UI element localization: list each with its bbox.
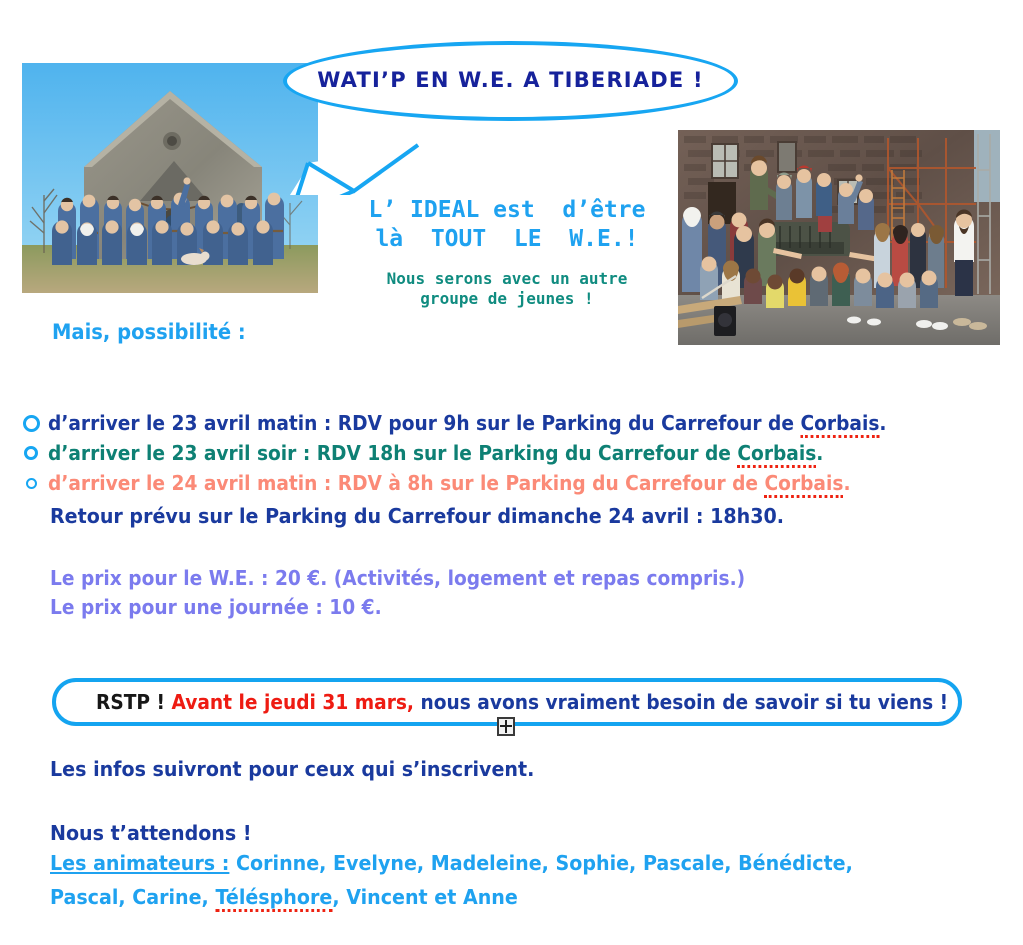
misspelled-word: Corbais (765, 471, 844, 498)
bullet-ring-icon (14, 446, 48, 460)
autre-groupe-text-block: Nous serons avec un autre groupe de jeun… (352, 269, 662, 310)
animateurs-label: Les animateurs : (50, 851, 229, 875)
ideal-line-1: L’ IDEAL est d’être (352, 196, 662, 225)
animateurs-line: Les animateurs : Corinne, Evelyne, Madel… (50, 851, 853, 875)
animateurs-line-2: Pascal, Carine, Télésphore, Vincent et A… (50, 885, 518, 909)
youth-photo-art (678, 130, 1000, 345)
bullet-1-text-after: . (879, 411, 886, 435)
infos-line: Les infos suivront pour ceux qui s’inscr… (50, 757, 534, 781)
mais-possibilite-heading: Mais, possibilité : (52, 320, 246, 344)
list-item-text: d’arriver le 23 avril matin : RDV pour 9… (48, 411, 886, 435)
ideal-text-block: L’ IDEAL est d’être là TOUT LE W.E.! (352, 196, 662, 253)
list-item[interactable]: d’arriver le 23 avril matin : RDV pour 9… (14, 408, 994, 438)
rstp-text: RSTP !Avant le jeudi 31 mars, nous avons… (96, 690, 948, 714)
retour-line: Retour prévu sur le Parking du Carrefour… (50, 504, 784, 528)
price-day-line: Le prix pour une journée : 10 €. (50, 595, 382, 619)
animateurs-names-2a: Pascal, Carine, (50, 885, 215, 909)
rstp-rest: nous avons vraiment besoin de savoir si … (414, 690, 948, 714)
bullet-1-text-before: d’arriver le 23 avril matin : RDV pour 9… (48, 411, 800, 435)
animateurs-names-2b: , Vincent et Anne (332, 885, 517, 909)
list-item[interactable]: d’arriver le 24 avril matin : RDV à 8h s… (14, 468, 994, 498)
speech-bubble-text: WATI’P EN W.E. A TIBERIADE ! (317, 68, 704, 92)
misspelled-word: Corbais (737, 441, 816, 468)
autre-line-2: groupe de jeunes ! (352, 289, 662, 309)
list-item[interactable]: d’arriver le 23 avril soir : RDV 18h sur… (14, 438, 994, 468)
resize-handle[interactable] (497, 717, 515, 736)
bullet-3-text-before: d’arriver le 24 avril matin : RDV à 8h s… (48, 471, 765, 495)
rstp-prefix: RSTP ! (96, 690, 165, 714)
bullet-2-text-after: . (816, 441, 823, 465)
attendons-line: Nous t’attendons ! (50, 821, 252, 845)
bullet-ring-icon (14, 415, 48, 432)
bullet-2-text-before: d’arriver le 23 avril soir : RDV 18h sur… (48, 441, 737, 465)
price-weekend-line: Le prix pour le W.E. : 20 €. (Activités,… (50, 566, 745, 590)
arrival-options-list: d’arriver le 23 avril matin : RDV pour 9… (14, 408, 994, 498)
animateurs-names-1: Corinne, Evelyne, Madeleine, Sophie, Pas… (229, 851, 852, 875)
misspelled-word: Télésphore (215, 885, 332, 912)
autre-line-1: Nous serons avec un autre (352, 269, 662, 289)
youth-group-photo (678, 130, 1000, 345)
bullet-ring-icon (14, 478, 48, 489)
misspelled-word: Corbais (800, 411, 879, 438)
bullet-3-text-after: . (843, 471, 850, 495)
list-item-text: d’arriver le 23 avril soir : RDV 18h sur… (48, 441, 823, 465)
list-item-text: d’arriver le 24 avril matin : RDV à 8h s… (48, 471, 851, 495)
speech-bubble[interactable]: WATI’P EN W.E. A TIBERIADE ! (283, 41, 738, 121)
ideal-line-2: là TOUT LE W.E.! (352, 225, 662, 254)
rstp-deadline: Avant le jeudi 31 mars, (172, 690, 414, 714)
